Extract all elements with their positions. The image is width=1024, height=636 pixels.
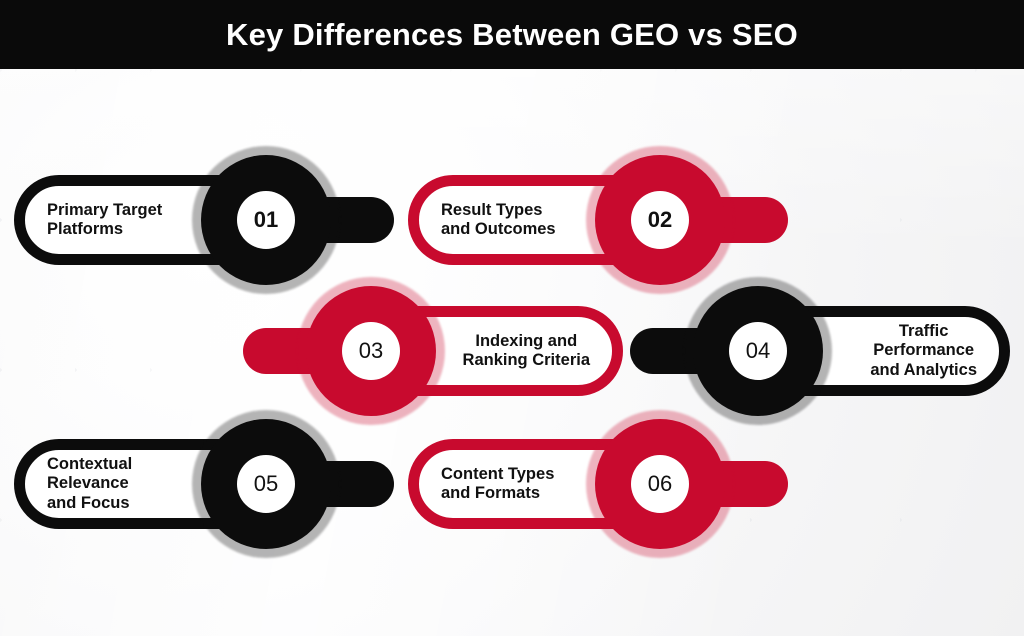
number-badge[interactable]: 06: [595, 419, 725, 549]
list-item-05[interactable]: Contextual Relevance and Focus 05: [14, 409, 394, 559]
number-badge-inner: 06: [631, 455, 689, 513]
item-number: 02: [648, 209, 672, 231]
number-badge-inner: 02: [631, 191, 689, 249]
number-badge-inner: 01: [237, 191, 295, 249]
number-badge-inner: 05: [237, 455, 295, 513]
number-badge[interactable]: 01: [201, 155, 331, 285]
number-badge-inner: 03: [342, 322, 400, 380]
item-number: 05: [254, 473, 278, 495]
item-label: Indexing and Ranking Criteria: [463, 332, 590, 371]
header-bar: Key Differences Between GEO vs SEO: [0, 0, 1024, 69]
list-item-04[interactable]: Traffic Performance and Analytics 04: [630, 276, 1010, 426]
item-label: Content Types and Formats: [441, 465, 554, 504]
list-item-01[interactable]: Primary Target Platforms 01: [14, 145, 394, 295]
list-item-06[interactable]: Content Types and Formats 06: [408, 409, 788, 559]
item-number: 01: [254, 209, 278, 231]
number-badge-inner: 04: [729, 322, 787, 380]
item-label: Primary Target Platforms: [47, 201, 162, 240]
item-number: 03: [359, 340, 383, 362]
page-title: Key Differences Between GEO vs SEO: [226, 17, 798, 53]
item-number: 06: [648, 473, 672, 495]
infographic-canvas: Key Differences Between GEO vs SEO Prima…: [0, 0, 1024, 636]
list-item-02[interactable]: Result Types and Outcomes 02: [408, 145, 788, 295]
item-label: Contextual Relevance and Focus: [47, 455, 132, 513]
item-label: Traffic Performance and Analytics: [870, 322, 977, 380]
item-number: 04: [746, 340, 770, 362]
number-badge[interactable]: 02: [595, 155, 725, 285]
number-badge[interactable]: 05: [201, 419, 331, 549]
number-badge[interactable]: 04: [693, 286, 823, 416]
item-label: Result Types and Outcomes: [441, 201, 556, 240]
list-item-03[interactable]: Indexing and Ranking Criteria 03: [243, 276, 623, 426]
number-badge[interactable]: 03: [306, 286, 436, 416]
